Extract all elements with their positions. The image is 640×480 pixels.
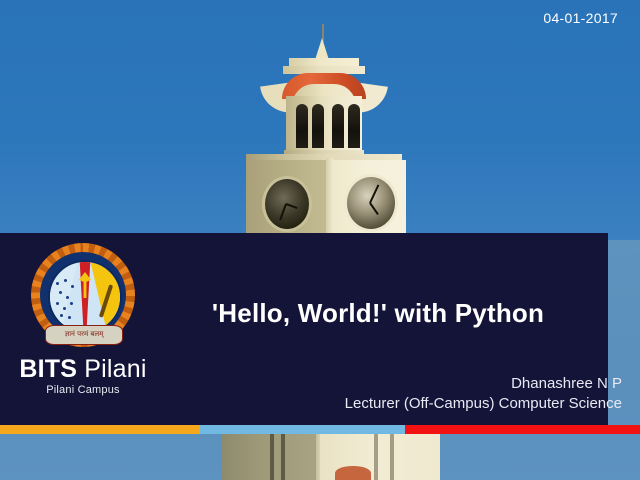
belfry-opening — [296, 104, 308, 148]
spire-finial — [315, 38, 329, 60]
accent-bar-blue — [200, 425, 405, 434]
belfry-opening — [312, 104, 324, 148]
bits-pilani-logo: ज्ञानं परमं बलम् BITS Pilani Pilani Camp… — [8, 243, 158, 396]
tower-shaft-groove — [281, 434, 285, 480]
tower-shaft-groove — [390, 434, 394, 480]
slide-title: 'Hello, World!' with Python — [168, 298, 588, 329]
campus-label: Pilani Campus — [8, 384, 158, 396]
belfry-opening — [332, 104, 344, 148]
crest-seal — [48, 260, 122, 334]
crest-motto-scroll: ज्ञानं परमं बलम् — [45, 325, 123, 345]
presenter-name: Dhanashree N P — [345, 374, 622, 394]
bits-crest-icon: ज्ञानं परमं बलम् — [31, 243, 135, 347]
clock-hand — [369, 202, 379, 215]
accent-bar-red — [405, 425, 640, 434]
clock-hand — [369, 184, 379, 203]
clock-hand — [279, 204, 287, 221]
clock-hand — [286, 203, 298, 209]
brand-bits: BITS — [19, 355, 77, 383]
clock-face-left — [262, 176, 312, 232]
slide-date: 04-01-2017 — [543, 10, 618, 26]
tower-shaft-groove — [270, 434, 274, 480]
presentation-slide: 04-01-2017 ज्ञानं परमं बलम् — [0, 0, 640, 480]
tower-lower-roof — [335, 466, 371, 480]
brand-pilani: Pilani — [77, 355, 147, 383]
clock-face-right — [344, 174, 398, 232]
presenter-role: Lecturer (Off-Campus) Computer Science — [345, 394, 622, 414]
belfry-opening — [348, 104, 360, 148]
clock-stage-corner — [326, 158, 333, 236]
brand-wordmark: BITS Pilani — [8, 356, 158, 382]
accent-bar-orange — [0, 425, 200, 434]
presenter-block: Dhanashree N P Lecturer (Off-Campus) Com… — [345, 374, 622, 415]
accent-bar — [0, 425, 640, 434]
crest-star-field — [54, 278, 80, 320]
tower-shaft-groove — [374, 434, 378, 480]
